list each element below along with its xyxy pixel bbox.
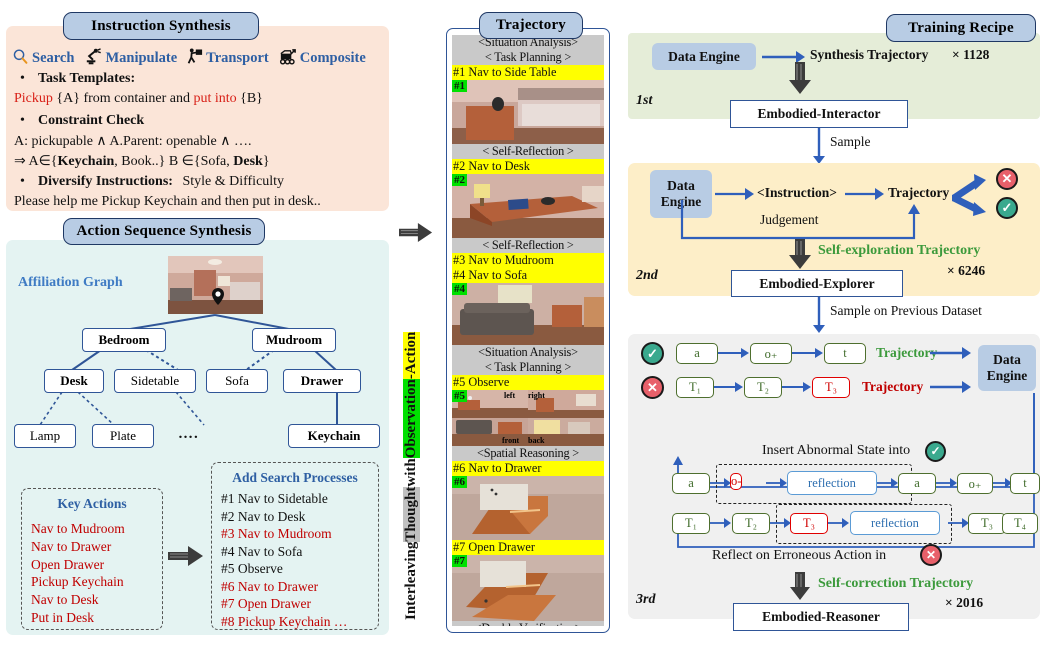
stage1-synthesis-label: Synthesis Trajectory [810, 47, 928, 63]
stage-2-order: 2nd [636, 268, 658, 284]
stage3-ok-trajectory-label: Trajectory [876, 345, 937, 361]
key-action-item: Nav to Drawer [31, 538, 162, 556]
stage2-trajectory-label: Trajectory [888, 185, 949, 201]
task-type-icon-row: Search Manipulate Transport Composite [12, 48, 384, 68]
constraint-result-line: ⇒ A∈{Keychain, Book..} B ∈{Sofa, Desk} [14, 153, 270, 170]
view-label-left: left [504, 391, 515, 400]
instruction-synthesis-title: Instruction Synthesis [63, 12, 259, 40]
stage2-judgement-label: Judgement [760, 212, 819, 228]
observation-step-badge: #2 [452, 174, 467, 186]
interleaving-thought: Thought [403, 487, 420, 542]
key-actions-title: Key Actions [22, 496, 162, 512]
instruction-synthesis-panel: Search Manipulate Transport Composite •T… [6, 26, 389, 211]
stage3-data-engine-box[interactable]: Data Engine [978, 345, 1036, 391]
token-T1: T₁ [672, 513, 710, 534]
token-o-minus: o- [730, 473, 742, 490]
trajectory-action: #7 Open Drawer [452, 540, 604, 555]
add-search-processes-title: Add Search Processes [212, 470, 378, 486]
stage1-sample-arrow-icon [810, 128, 828, 164]
token-T2: T₂ [732, 513, 770, 534]
observation-step-badge: #6 [452, 476, 467, 488]
key-action-item: Open Drawer [31, 556, 162, 574]
token-T3-error: T₃ [790, 513, 828, 534]
graph-node-mudroom[interactable]: Mudroom [252, 328, 336, 352]
graph-node-ellipsis: …. [178, 426, 199, 443]
task-type-label-composite: Composite [300, 50, 366, 67]
key-action-item: Nav to Desk [31, 591, 162, 609]
trajectory-tag: <Double Verification> [452, 621, 604, 626]
key-action-item: Nav to Mudroom [31, 520, 162, 538]
trajectory-observation-image: #4 [452, 283, 604, 345]
search-process-item: #6 Nav to Drawer [221, 578, 378, 596]
key-action-item: Put in Desk [31, 609, 162, 627]
graph-node-desk[interactable]: Desk [44, 369, 104, 393]
token-a: a [672, 473, 710, 494]
trajectory-title: Trajectory [479, 12, 583, 39]
stage3-ok-badge: ✓ [641, 342, 664, 365]
stage2-sample-label: Sample on Previous Dataset [830, 303, 982, 319]
embodied-reasoner-box[interactable]: Embodied-Reasoner [733, 603, 909, 631]
key-actions-list: Nav to Mudroom Nav to Drawer Open Drawer… [31, 520, 162, 627]
robot-arm-icon [83, 47, 102, 70]
graph-node-sofa[interactable]: Sofa [206, 369, 268, 393]
graph-node-drawer[interactable]: Drawer [283, 369, 361, 393]
search-process-item: #3 Nav to Mudroom [221, 525, 378, 543]
constraint-line: A: pickupable ∧ A.Parent: openable ∧ …. [14, 133, 251, 150]
stage2-output-label: Self-exploration Trajectory [818, 243, 980, 259]
task-type-label-transport: Transport [206, 50, 269, 67]
graph-node-plate[interactable]: Plate [92, 424, 154, 448]
stage2-reject-badge: ✕ [996, 168, 1018, 190]
interleaving-action: -Action [403, 332, 420, 380]
observation-step-badge: #5 [452, 390, 467, 402]
action-sequence-synthesis-panel: Affiliation Graph Bedroom Mudroom [6, 240, 389, 635]
token-reflection: reflection [850, 511, 940, 535]
token-T1: T₁ [676, 377, 714, 398]
token-o-plus: o₊ [957, 473, 993, 494]
stage-3-order: 3rd [636, 592, 655, 608]
task-type-label-manipulate: Manipulate [105, 50, 177, 67]
trajectory-observation-image-observe: #5 left right front back [452, 390, 604, 446]
stage2-data-engine-box[interactable]: Data Engine [650, 170, 712, 218]
stage1-data-engine-box[interactable]: Data Engine [652, 43, 756, 70]
trajectory-observation-image: #7 [452, 555, 604, 621]
stage2-sample-arrow-icon [810, 297, 828, 333]
trajectory-action: #3 Nav to Mudroom [452, 253, 604, 268]
task-templates-heading: •Task Templates: [20, 71, 135, 87]
token-t: t [824, 343, 866, 364]
interleaving-with: with [403, 458, 420, 486]
stage1-sample-label: Sample [830, 134, 871, 150]
embodied-explorer-box[interactable]: Embodied-Explorer [731, 270, 903, 297]
arrow-left-to-trajectory-icon [399, 222, 433, 247]
trajectory-observation-image: #2 [452, 174, 604, 238]
trajectory-tag: < Task Planning > [452, 50, 604, 65]
observation-step-badge: #1 [452, 80, 467, 92]
rover-robot-icon [278, 47, 297, 70]
stage3-no-trajectory-label: Trajectory [862, 379, 923, 395]
magnifier-icon [12, 48, 29, 69]
diversify-heading: •Diversify Instructions: Style & Difficu… [20, 174, 284, 190]
token-o-plus: o₊ [750, 343, 792, 364]
token-t: t [1010, 473, 1040, 494]
trajectory-stream: <Situation Analysis> < Task Planning > #… [452, 35, 604, 626]
graph-node-lamp[interactable]: Lamp [14, 424, 76, 448]
search-process-item: #4 Nav to Sofa [221, 543, 378, 561]
reflect-on-erroneous-label: Reflect on Erroneous Action in [712, 548, 886, 564]
action-sequence-synthesis-title: Action Sequence Synthesis [63, 218, 265, 245]
token-reflection: reflection [787, 471, 877, 495]
trajectory-tag: < Task Planning > [452, 360, 604, 375]
trajectory-tag: < Self-Reflection > [452, 144, 604, 159]
person-carrying-box-icon [185, 47, 203, 70]
stage1-synthesis-count: × 1128 [952, 47, 989, 63]
token-T3-corrected: T₃ [968, 513, 1006, 534]
stage3-down-arrow-icon [790, 572, 810, 606]
interleaving-label: Interleaving Thought with Observation-Ac… [398, 248, 424, 620]
stage2-output-count: × 6246 [947, 263, 985, 279]
constraint-check-heading: •Constraint Check [20, 113, 144, 129]
key-action-item: Pickup Keychain [31, 573, 162, 591]
embodied-interactor-box[interactable]: Embodied-Interactor [730, 100, 908, 128]
token-T4: T₄ [1002, 513, 1038, 534]
trajectory-tag: <Spatial Reasoning > [452, 446, 604, 461]
trajectory-observation-image: #6 [452, 476, 604, 540]
add-search-processes-list: #1 Nav to Sidetable #2 Nav to Desk #3 Na… [221, 490, 378, 630]
reflect-no-badge: ✕ [920, 544, 942, 566]
search-process-item: #8 Pickup Keychain … [221, 613, 378, 631]
graph-node-sidetable[interactable]: Sidetable [114, 369, 196, 393]
insert-ok-badge: ✓ [925, 441, 946, 462]
search-process-item: #2 Nav to Desk [221, 508, 378, 526]
trajectory-tag: < Self-Reflection > [452, 238, 604, 253]
interleaving-prefix: Interleaving [403, 542, 420, 620]
training-recipe-title: Training Recipe [886, 14, 1036, 42]
token-T2: T₂ [744, 377, 782, 398]
trajectory-panel: <Situation Analysis> < Task Planning > #… [446, 28, 610, 633]
search-process-item: #7 Open Drawer [221, 595, 378, 613]
insert-abnormal-state-label: Insert Abnormal State into [762, 443, 910, 459]
observation-step-badge: #4 [452, 283, 467, 295]
view-label-front: front [502, 436, 519, 445]
token-a-retry: a [898, 473, 936, 494]
trajectory-observation-image: #1 [452, 80, 604, 144]
trajectory-action: #4 Nav to Sofa [452, 268, 604, 283]
task-template-line: Pickup {A} from container and put into {… [14, 91, 263, 107]
token-a: a [676, 343, 718, 364]
task-type-label-search: Search [32, 50, 74, 67]
trajectory-action: #5 Observe [452, 375, 604, 390]
graph-node-keychain[interactable]: Keychain [288, 424, 380, 448]
graph-node-bedroom[interactable]: Bedroom [82, 328, 166, 352]
stage2-instruction-label: <Instruction> [757, 185, 837, 201]
stage3-output-label: Self-correction Trajectory [818, 576, 973, 592]
observation-step-badge: #7 [452, 555, 467, 567]
stage-1-order: 1st [636, 93, 652, 109]
stage2-accept-badge: ✓ [996, 197, 1018, 219]
trajectory-action: #1 Nav to Side Table [452, 65, 604, 80]
interleaving-observation: Observation [403, 379, 420, 458]
key-actions-box: Key Actions Nav to Mudroom Nav to Drawer… [21, 488, 163, 630]
token-T3-error: T₃ [812, 377, 850, 398]
stage1-down-arrow-icon [789, 62, 811, 100]
view-label-back: back [528, 436, 544, 445]
affiliation-graph-label: Affiliation Graph [18, 275, 123, 291]
trajectory-action: #6 Nav to Drawer [452, 461, 604, 476]
trajectory-tag: <Situation Analysis> [452, 345, 604, 360]
room-thumbnail [168, 256, 263, 314]
view-label-right: right [528, 391, 545, 400]
interleaving-label-wrapper: Interleaving Thought with Observation-Ac… [398, 248, 424, 620]
search-process-item: #5 Observe [221, 560, 378, 578]
example-instruction: Please help me Pickup Keychain and then … [14, 194, 321, 210]
stage3-no-badge: ✕ [641, 376, 664, 399]
search-process-item: #1 Nav to Sidetable [221, 490, 378, 508]
add-search-processes-box: Add Search Processes #1 Nav to Sidetable… [211, 462, 379, 630]
arrow-key-to-search-icon [168, 545, 204, 571]
stage3-output-count: × 2016 [945, 595, 983, 611]
trajectory-action: #2 Nav to Desk [452, 159, 604, 174]
